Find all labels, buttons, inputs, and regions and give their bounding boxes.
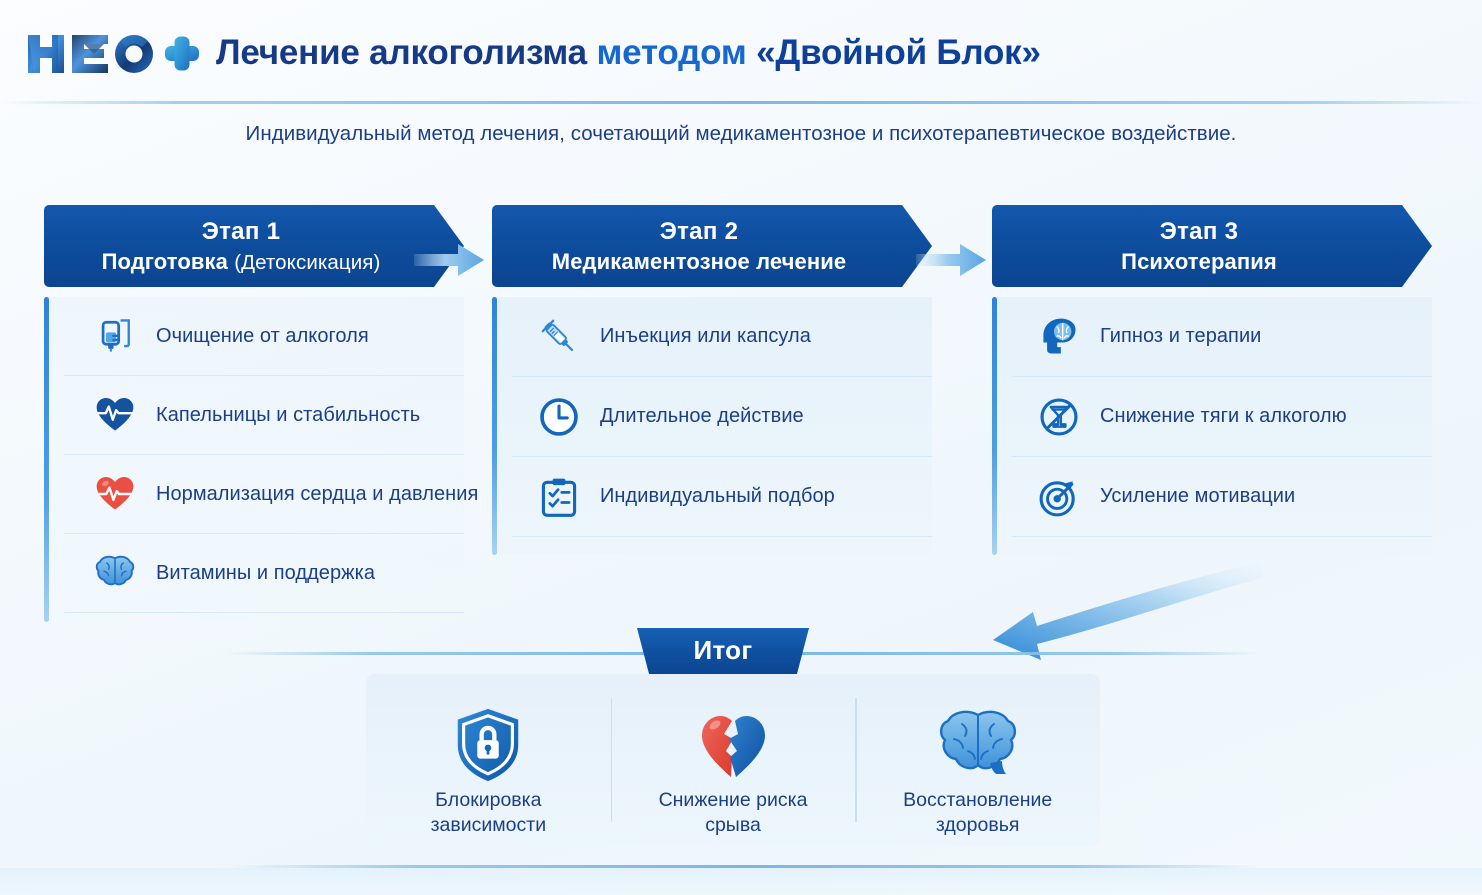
- outcome-label: Восстановление здоровья: [903, 788, 1052, 838]
- bottom-glow: [0, 868, 1482, 895]
- outcome-label: Снижение риска срыва: [659, 788, 808, 838]
- header-divider: [0, 101, 1482, 104]
- no-alcohol-icon: [1034, 392, 1084, 442]
- iv-drip-icon: [90, 311, 140, 361]
- feature-item[interactable]: Нормализация сердца и давления: [64, 455, 464, 534]
- outcome-label-line2: зависимости: [431, 814, 547, 836]
- feature-label: Капельницы и стабильность: [156, 404, 420, 427]
- feature-item[interactable]: Индивидуальный подбор: [512, 457, 932, 537]
- feature-item[interactable]: Капельницы и стабильность: [64, 376, 464, 455]
- shield-lock-icon: [446, 706, 530, 784]
- stage-2-name: Медикаментозное лечение: [492, 247, 906, 277]
- stage-3-feature-list: Гипноз и терапии Снижение тяги к алкогол…: [992, 297, 1432, 555]
- feature-label: Инъекция или капсула: [600, 325, 811, 348]
- outcome-label: Блокировка зависимости: [431, 788, 547, 838]
- stage-1-number: Этап 1: [44, 217, 438, 247]
- outcome-label-line1: Восстановление: [903, 789, 1052, 811]
- stage-1-header: Этап 1 Подготовка (Детоксикация): [44, 205, 464, 287]
- feature-label: Длительное действие: [600, 405, 804, 428]
- stage-1-name: Подготовка (Детоксикация): [44, 247, 438, 278]
- curved-left-arrow-icon: [975, 548, 1265, 668]
- broken-heart-icon: [691, 706, 775, 784]
- feature-label: Гипноз и терапии: [1100, 325, 1261, 348]
- feature-label: Снижение тяги к алкоголю: [1100, 405, 1347, 428]
- outcome-label-line2: здоровья: [936, 814, 1020, 836]
- outcome-label-line1: Блокировка: [435, 789, 541, 811]
- stage-3-number: Этап 3: [992, 217, 1406, 247]
- stage-1-name-main: Подготовка: [102, 249, 228, 274]
- stage-1-feature-list: Очищение от алкоголя Капельницы и стабил…: [44, 297, 464, 622]
- outcome-label-line1: Снижение риска: [659, 789, 808, 811]
- feature-label: Витамины и поддержка: [156, 562, 375, 585]
- page-header: Лечение алкоголизма методом «Двойной Бло…: [0, 0, 1482, 104]
- feature-item[interactable]: Снижение тяги к алкоголю: [1012, 377, 1432, 457]
- stage-card-2: Этап 2 Медикаментозное лечение Ин: [492, 205, 932, 555]
- feature-label: Нормализация сердца и давления: [156, 483, 478, 506]
- feature-label: Индивидуальный подбор: [600, 485, 835, 508]
- brain-recovery-icon: [936, 706, 1020, 784]
- page-subtitle: Индивидуальный метод лечения, сочетающий…: [0, 122, 1482, 146]
- stage-2-header: Этап 2 Медикаментозное лечение: [492, 205, 932, 287]
- clipboard-checklist-icon: [534, 472, 584, 522]
- feature-label: Усиление мотивации: [1100, 485, 1295, 508]
- stage-card-3: Этап 3 Психотерапия Гипноз и терапии: [992, 205, 1432, 555]
- head-brain-icon: [1034, 312, 1084, 362]
- result-card: Блокировка зависимости Снижение: [366, 674, 1100, 846]
- heart-pulse-blue-icon: [90, 390, 140, 440]
- syringe-icon: [534, 312, 584, 362]
- stage-3-header: Этап 3 Психотерапия: [992, 205, 1432, 287]
- clock-icon: [534, 392, 584, 442]
- stage-2-number: Этап 2: [492, 217, 906, 247]
- outcome-label-line2: срыва: [705, 814, 761, 836]
- stage-1-name-paren: (Детоксикация): [234, 251, 380, 274]
- heart-pulse-red-icon: [90, 469, 140, 519]
- feature-item[interactable]: Витамины и поддержка: [64, 534, 464, 613]
- stage-2-feature-list: Инъекция или капсула Длительное действие: [492, 297, 932, 555]
- neo-plus-logo: [24, 27, 202, 79]
- stage-card-1: Этап 1 Подготовка (Детоксикация) Очищени…: [44, 205, 464, 622]
- feature-item[interactable]: Инъекция или капсула: [512, 297, 932, 377]
- feature-item[interactable]: Длительное действие: [512, 377, 932, 457]
- brain-icon: [90, 548, 140, 598]
- stage-connector-arrow-2: [916, 240, 988, 280]
- outcome-item[interactable]: Блокировка зависимости: [366, 692, 611, 828]
- outcome-item[interactable]: Восстановление здоровья: [855, 692, 1100, 828]
- stage-3-name: Психотерапия: [992, 247, 1406, 277]
- result-badge: Итог: [637, 628, 809, 674]
- title-segment-3: «Двойной Блок»: [756, 33, 1041, 72]
- target-arrow-icon: [1034, 472, 1084, 522]
- page-title: Лечение алкоголизма методом «Двойной Бло…: [216, 33, 1041, 73]
- feature-item[interactable]: Гипноз и терапии: [1012, 297, 1432, 377]
- title-segment-2: методом: [596, 33, 746, 72]
- stage-connector-arrow-1: [414, 240, 486, 280]
- feature-label: Очищение от алкоголя: [156, 325, 369, 348]
- feature-item[interactable]: Усиление мотивации: [1012, 457, 1432, 537]
- outcome-item[interactable]: Снижение риска срыва: [611, 692, 856, 828]
- title-segment-1: Лечение алкоголизма: [216, 33, 587, 72]
- feature-item[interactable]: Очищение от алкоголя: [64, 297, 464, 376]
